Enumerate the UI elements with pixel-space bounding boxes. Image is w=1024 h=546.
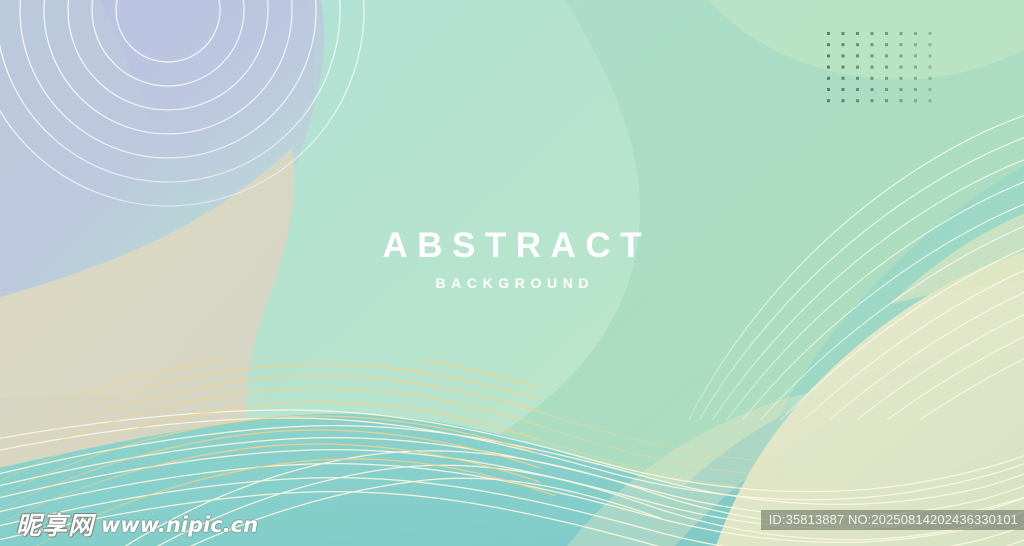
nipic-logo-text: 昵享网 — [16, 511, 94, 540]
image-id-badge: ID:35813887 NO:20250814202436330101 — [761, 510, 1024, 530]
nipic-url-text: www.nipic.cn — [101, 513, 258, 538]
watermark: 昵享网 www.nipic.cn — [16, 511, 258, 540]
artboard — [0, 0, 1024, 546]
abstract-background-image: ABSTRACT BACKGROUND 昵享网 www.nipic.cn ID:… — [0, 0, 1024, 546]
